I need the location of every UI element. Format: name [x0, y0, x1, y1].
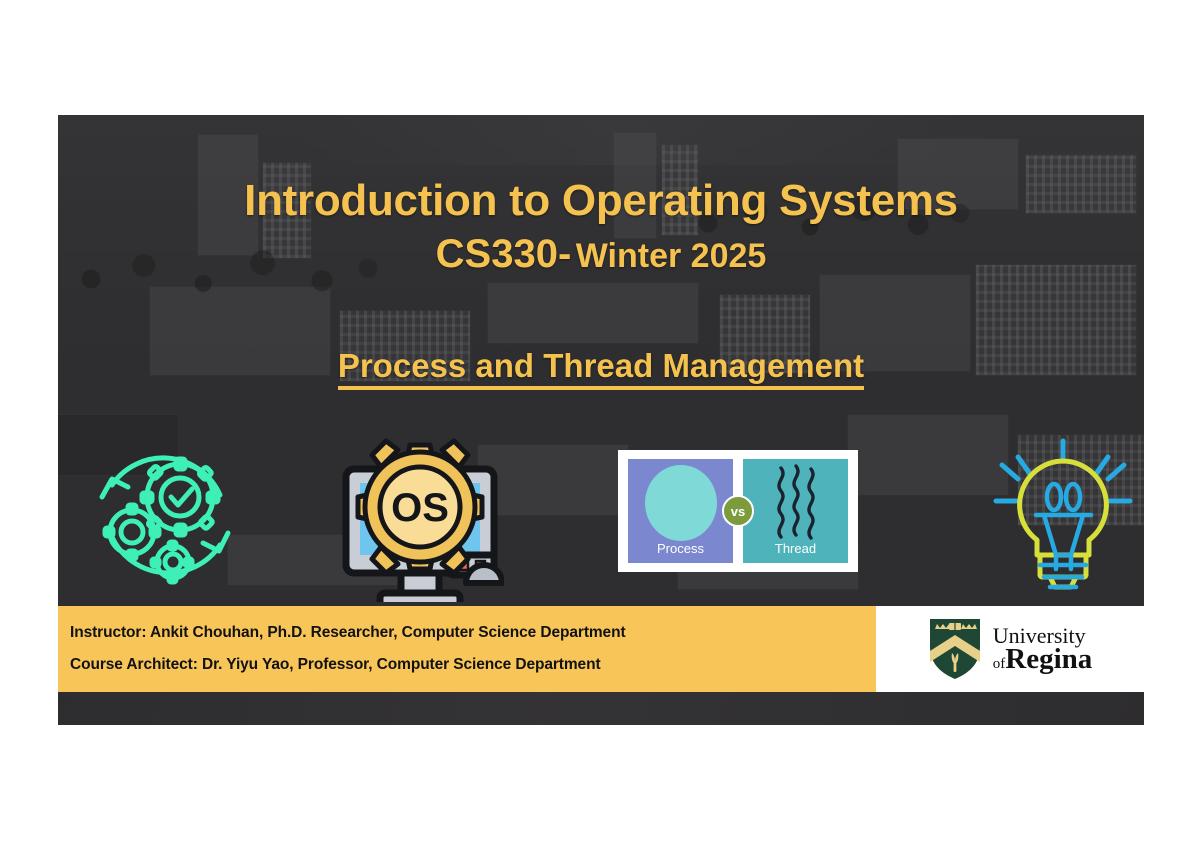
gears-refresh-icon	[80, 433, 250, 603]
course-term: Winter 2025	[576, 237, 767, 275]
wordmark-of: of	[993, 656, 1006, 672]
page-title: Introduction to Operating Systems	[58, 177, 1144, 225]
university-logo: University ofRegina	[876, 606, 1144, 692]
instructor-line: Instructor: Ankit Chouhan, Ph.D. Researc…	[70, 624, 876, 642]
university-wordmark: University ofRegina	[993, 626, 1093, 673]
os-monitor-icon: OS	[336, 437, 504, 607]
credits-bar: Instructor: Ankit Chouhan, Ph.D. Researc…	[58, 606, 876, 692]
lightbulb-idea-icon	[988, 435, 1138, 600]
wordmark-line2: ofRegina	[993, 646, 1093, 673]
title-slide: Introduction to Operating Systems CS330-…	[58, 115, 1144, 725]
course-architect-line: Course Architect: Dr. Yiyu Yao, Professo…	[70, 656, 876, 674]
thread-waves-icon	[767, 462, 825, 548]
topic-heading: Process and Thread Management	[58, 347, 1144, 385]
vs-badge: vs	[722, 495, 754, 527]
course-line: CS330- Winter 2025	[58, 233, 1144, 276]
course-code: CS330-	[436, 232, 572, 276]
process-vs-thread-card: Process Thread vs	[618, 450, 858, 572]
thread-label: Thread	[775, 541, 816, 556]
process-pane: Process	[628, 459, 733, 563]
os-label: OS	[391, 486, 449, 530]
title-block: Introduction to Operating Systems CS330-…	[58, 177, 1144, 276]
topic-text: Process and Thread Management	[338, 347, 864, 390]
process-label: Process	[657, 541, 704, 556]
regina-shield-icon	[928, 617, 982, 681]
wordmark-regina: Regina	[1005, 643, 1092, 675]
process-circle-icon	[645, 465, 717, 541]
thread-pane: Thread	[743, 459, 848, 563]
icon-row: OS	[58, 433, 1144, 603]
